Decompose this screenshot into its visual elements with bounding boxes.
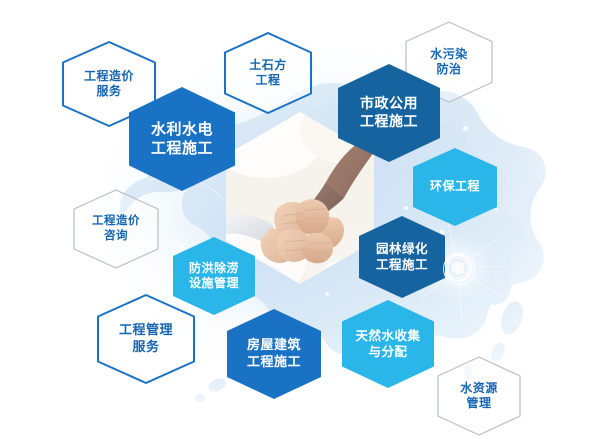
hexagon-engineering-cost-consulting[interactable]: 工程造价 咨询	[73, 189, 159, 269]
hexagon-shape	[437, 356, 521, 436]
hexagon-earthwork-engineering[interactable]: 土石方 工程	[224, 32, 312, 114]
network-node-ring	[443, 253, 475, 285]
hexagon-shape	[224, 32, 312, 114]
hexagon-shape	[226, 308, 322, 400]
hexagon-shape	[341, 299, 435, 389]
hexagon-shape	[97, 294, 195, 384]
hexagon-natural-water-collection-distribution[interactable]: 天然水收集 与分配	[341, 299, 435, 389]
sparkle-dot	[300, 410, 304, 414]
sparkle-dot	[325, 292, 329, 296]
hexagon-engineering-management-service[interactable]: 工程管理 服务	[97, 294, 195, 384]
hexagon-shape	[73, 189, 159, 269]
sparkle-dot	[372, 398, 375, 401]
hexagon-water-resources-management[interactable]: 水资源 管理	[437, 356, 521, 436]
sparkle-dot	[463, 126, 468, 131]
infographic-canvas: 工程造价 服务土石方 工程水污染 防治水利水电 工程施工市政公用 工程施工环保工…	[0, 0, 600, 439]
hexagon-shape	[128, 86, 236, 192]
hexagon-shape	[358, 215, 446, 299]
hexagon-housing-construction-engineering[interactable]: 房屋建筑 工程施工	[226, 308, 322, 400]
hexagon-landscaping-engineering-construction[interactable]: 园林绿化 工程施工	[358, 215, 446, 299]
hexagon-water-conservancy-hydropower-construction[interactable]: 水利水电 工程施工	[128, 86, 236, 192]
sparkle-dot	[404, 206, 408, 210]
